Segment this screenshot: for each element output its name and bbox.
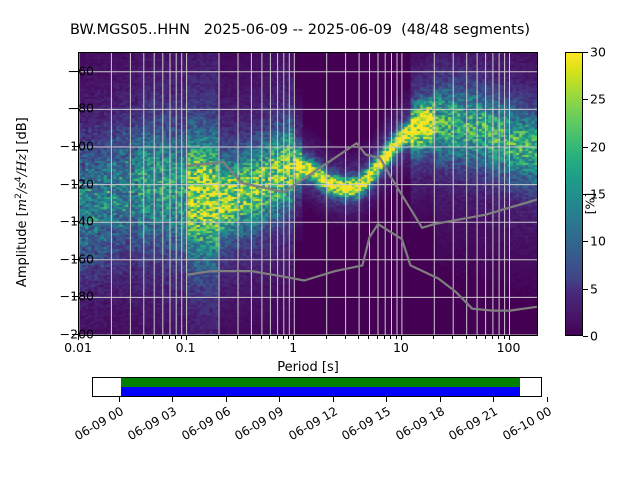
peterson-noise-model-curves bbox=[79, 53, 537, 335]
x-tick-mark bbox=[377, 336, 378, 339]
coverage-tick-mark bbox=[333, 397, 334, 402]
y-tick-label: −100 bbox=[34, 139, 94, 154]
y-tick-mark bbox=[72, 296, 78, 297]
x-tick-mark bbox=[181, 336, 182, 339]
coverage-tick-mark bbox=[279, 397, 280, 402]
colorbar-tick-mark bbox=[583, 52, 588, 53]
x-tick-mark bbox=[345, 336, 346, 339]
coverage-tick-mark bbox=[547, 397, 548, 402]
x-tick-mark bbox=[162, 336, 163, 339]
x-tick-mark bbox=[504, 336, 505, 339]
colorbar bbox=[565, 52, 583, 336]
x-tick-mark bbox=[485, 336, 486, 339]
y-tick-mark bbox=[72, 108, 78, 109]
x-tick-mark bbox=[384, 336, 385, 339]
x-tick-mark bbox=[288, 336, 289, 339]
colorbar-tick-label: 30 bbox=[590, 45, 606, 60]
coverage-tick-label: 06-09 18 bbox=[390, 404, 447, 445]
y-tick-mark bbox=[72, 334, 78, 335]
y-tick-mark bbox=[72, 184, 78, 185]
x-tick-mark bbox=[169, 336, 170, 339]
coverage-tick-label: 06-09 06 bbox=[176, 404, 233, 445]
coverage-tick-label: 06-09 21 bbox=[443, 404, 500, 445]
coverage-segment bbox=[121, 387, 520, 396]
colorbar-tick-mark bbox=[583, 241, 588, 242]
x-axis-label: Period [s] bbox=[78, 360, 538, 375]
y-axis-label: Amplitude [m2/s4/Hz] [dB] bbox=[14, 62, 30, 342]
y-tick-label: −180 bbox=[34, 289, 94, 304]
colorbar-tick-mark bbox=[583, 289, 588, 290]
colorbar-tick-label: 0 bbox=[590, 329, 598, 344]
x-tick-mark bbox=[492, 336, 493, 339]
x-tick-mark bbox=[277, 336, 278, 339]
x-tick-mark bbox=[358, 336, 359, 339]
x-tick-mark bbox=[476, 336, 477, 339]
coverage-tick-label: 06-10 00 bbox=[497, 404, 554, 445]
colorbar-tick-label: 20 bbox=[590, 139, 606, 154]
y-tick-mark bbox=[72, 146, 78, 147]
colorbar-tick-label: 25 bbox=[590, 92, 606, 107]
colorbar-tick-label: 5 bbox=[590, 281, 598, 296]
time-coverage-bar[interactable] bbox=[92, 377, 542, 397]
x-tick-mark bbox=[129, 336, 130, 339]
y-tick-mark bbox=[72, 221, 78, 222]
coverage-tick-label: 06-09 00 bbox=[69, 404, 126, 445]
y-tick-mark bbox=[72, 259, 78, 260]
coverage-tick-mark bbox=[119, 397, 120, 402]
x-tick-mark bbox=[237, 336, 238, 339]
x-tick-mark bbox=[466, 336, 467, 339]
coverage-tick-mark bbox=[226, 397, 227, 402]
x-tick-mark bbox=[396, 336, 397, 339]
x-tick-mark bbox=[283, 336, 284, 339]
y-tick-label: −160 bbox=[34, 251, 94, 266]
x-tick-mark bbox=[269, 336, 270, 339]
ppsd-figure: BW.MGS05..HHN 2025-06-09 -- 2025-06-09 (… bbox=[0, 0, 640, 480]
y-tick-label: −120 bbox=[34, 176, 94, 191]
x-tick-mark bbox=[498, 336, 499, 339]
x-tick-mark bbox=[143, 336, 144, 339]
x-tick-label: 1 bbox=[289, 340, 297, 355]
coverage-tick-label: 06-09 15 bbox=[336, 404, 393, 445]
x-tick-mark bbox=[368, 336, 369, 339]
x-tick-label: 100 bbox=[497, 340, 521, 355]
plot-title: BW.MGS05..HHN 2025-06-09 -- 2025-06-09 (… bbox=[0, 22, 600, 38]
x-tick-mark bbox=[153, 336, 154, 339]
x-tick-mark bbox=[326, 336, 327, 339]
colorbar-label: [%] bbox=[583, 174, 598, 234]
coverage-tick-label: 06-09 09 bbox=[229, 404, 286, 445]
coverage-segment bbox=[121, 378, 520, 387]
coverage-tick-mark bbox=[493, 397, 494, 402]
y-tick-label: −60 bbox=[34, 63, 94, 78]
x-tick-mark bbox=[175, 336, 176, 339]
x-tick-mark bbox=[452, 336, 453, 339]
x-tick-mark bbox=[390, 336, 391, 339]
colorbar-tick-label: 10 bbox=[590, 234, 606, 249]
colorbar-tick-mark bbox=[583, 336, 588, 337]
coverage-tick-mark bbox=[172, 397, 173, 402]
coverage-tick-mark bbox=[440, 397, 441, 402]
x-tick-label: 0.01 bbox=[64, 340, 92, 355]
x-tick-mark bbox=[261, 336, 262, 339]
x-tick-mark bbox=[433, 336, 434, 339]
x-tick-mark bbox=[110, 336, 111, 339]
x-tick-label: 10 bbox=[393, 340, 409, 355]
y-tick-label: −80 bbox=[34, 101, 94, 116]
coverage-tick-label: 06-09 12 bbox=[283, 404, 340, 445]
y-tick-mark bbox=[72, 71, 78, 72]
coverage-tick-label: 06-09 03 bbox=[122, 404, 179, 445]
x-tick-mark bbox=[250, 336, 251, 339]
coverage-tick-mark bbox=[386, 397, 387, 402]
y-tick-label: −140 bbox=[34, 214, 94, 229]
colorbar-tick-mark bbox=[583, 99, 588, 100]
colorbar-tick-mark bbox=[583, 147, 588, 148]
ppsd-axes[interactable] bbox=[78, 52, 538, 336]
x-tick-label: 0.1 bbox=[176, 340, 196, 355]
x-tick-mark bbox=[218, 336, 219, 339]
